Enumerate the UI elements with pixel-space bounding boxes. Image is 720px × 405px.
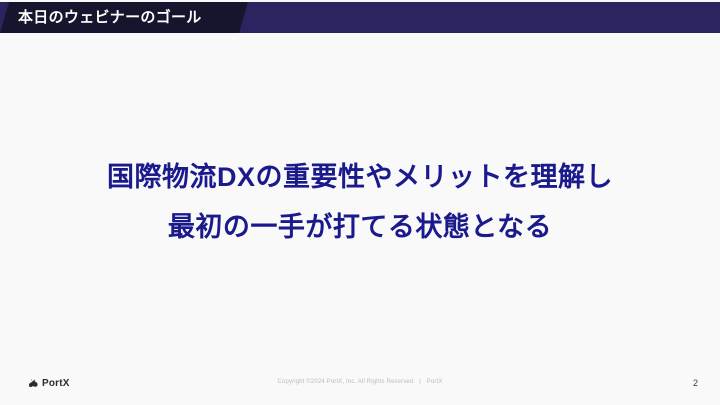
slide-footer: PortX Copyright ©2024 PortX, Inc. All Ri… (0, 371, 720, 405)
main-message-line-2: 最初の一手が打てる状態となる (0, 202, 720, 252)
copyright-separator: | (415, 379, 425, 385)
page-number: 2 (693, 378, 698, 388)
copyright-notice: Copyright ©2024 PortX, Inc. All Rights R… (0, 379, 720, 385)
slide-header-title: 本日のウェビナーのゴール (18, 2, 202, 33)
copyright-text: Copyright ©2024 PortX, Inc. All Rights R… (277, 379, 413, 385)
main-message: 国際物流DXの重要性やメリットを理解し 最初の一手が打てる状態となる (0, 152, 720, 252)
copyright-brand: PortX (427, 379, 443, 385)
slide: 本日のウェビナーのゴール 国際物流DXの重要性やメリットを理解し 最初の一手が打… (0, 0, 720, 405)
main-message-line-1: 国際物流DXの重要性やメリットを理解し (0, 152, 720, 202)
